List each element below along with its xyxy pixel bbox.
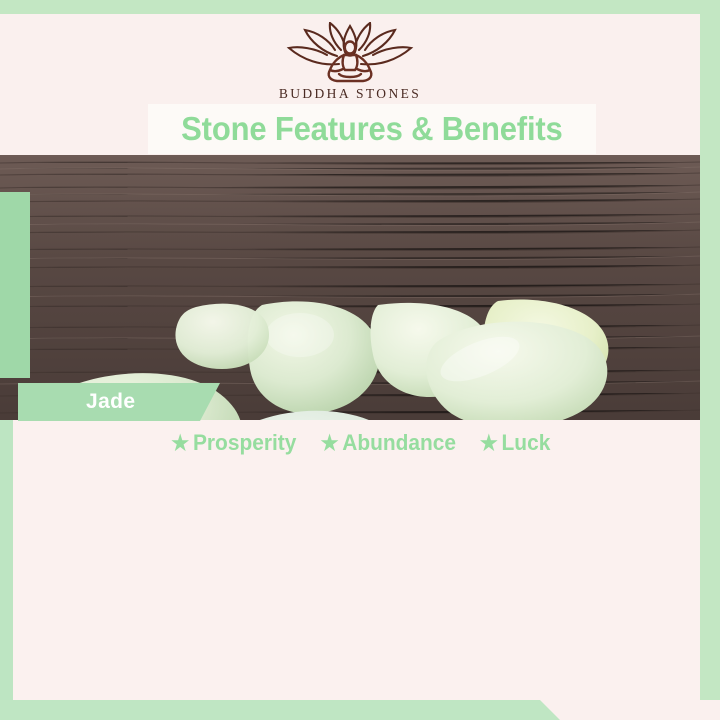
- bottom-accent-band: [0, 700, 560, 720]
- benefit-item-prosperity: ★Prosperity: [171, 430, 296, 456]
- star-icon: ★: [321, 432, 339, 455]
- stone-name-label: Jade: [86, 390, 135, 414]
- description-panel: [13, 420, 707, 702]
- benefits-row: ★Prosperity★Abundance★Luck: [13, 430, 707, 456]
- benefit-item-abundance: ★Abundance: [321, 430, 456, 456]
- product-photo: [0, 155, 700, 420]
- photo-left-accent-tab: [0, 192, 30, 378]
- benefit-item-luck: ★Luck: [480, 430, 550, 456]
- page-frame: BUDDHA STONES Stone Features & Benefits: [0, 0, 720, 720]
- benefit-label: Luck: [502, 430, 551, 455]
- top-accent-strip: [0, 0, 720, 14]
- star-icon: ★: [480, 432, 498, 455]
- brand-logo-block: BUDDHA STONES: [0, 14, 700, 102]
- right-accent-strip: [700, 0, 720, 720]
- benefit-label: Prosperity: [193, 430, 296, 455]
- benefit-label: Abundance: [343, 430, 457, 455]
- jade-stones-image: [0, 155, 700, 420]
- star-icon: ★: [171, 432, 189, 455]
- page-title: Stone Features & Benefits: [181, 110, 562, 148]
- lotus-meditation-figure-icon: [275, 22, 425, 84]
- stone-name-band: Jade: [18, 383, 220, 421]
- brand-name: BUDDHA STONES: [0, 86, 700, 102]
- left-accent-strip: [0, 420, 13, 702]
- title-banner: Stone Features & Benefits: [148, 104, 596, 154]
